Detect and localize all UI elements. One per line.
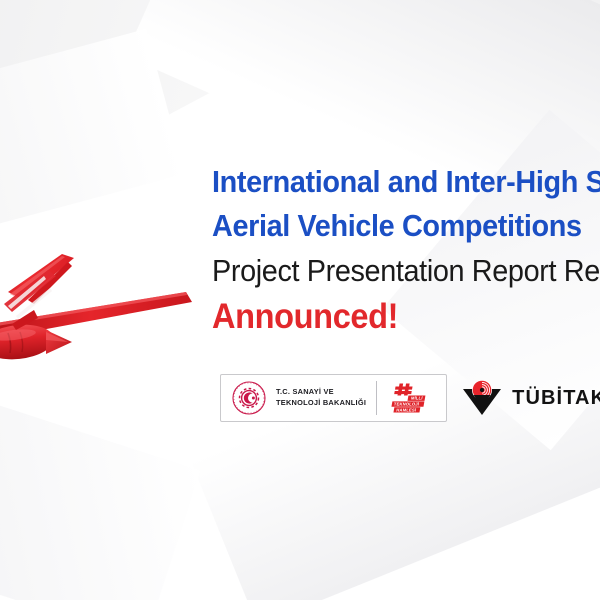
milli-teknoloji-hamlesi-logo: MİLLİ TEKNOLOJİ HAMLESİ [387, 381, 435, 415]
headline-line-1: International and Inter-High S [212, 166, 600, 197]
ministry-text-line-2: TEKNOLOJİ BAKANLIĞI [276, 398, 366, 409]
tubitak-logo: TÜBİTAK [461, 379, 600, 417]
ministry-logo-text: T.C. SANAYİ VE TEKNOLOJİ BAKANLIĞI [276, 387, 366, 408]
headline-line-2: Aerial Vehicle Competitions [212, 210, 600, 241]
ministry-logo-box: T.C. SANAYİ VE TEKNOLOJİ BAKANLIĞI [220, 374, 447, 422]
logo-row: T.C. SANAYİ VE TEKNOLOJİ BAKANLIĞI [220, 374, 600, 422]
svg-text:MİLLİ: MİLLİ [411, 396, 424, 401]
rocket-nose-cone [46, 330, 72, 354]
tubitak-v-mark [461, 379, 503, 417]
bg-shape-bottom-left [0, 378, 200, 600]
turkish-ministry-gear-emblem [232, 381, 266, 415]
tubitak-wordmark: TÜBİTAK [512, 387, 600, 410]
red-rocket-uav-graphic [0, 196, 205, 366]
headline-announced: Announced! [212, 299, 600, 334]
ministry-text-line-1: T.C. SANAYİ VE [276, 387, 366, 398]
headline-block: International and Inter-High S Aerial Ve… [212, 166, 600, 334]
headline-line-3: Project Presentation Report Re [212, 255, 600, 286]
svg-text:TEKNOLOJİ: TEKNOLOJİ [394, 402, 420, 407]
svg-text:HAMLESİ: HAMLESİ [396, 407, 417, 412]
announcement-banner: International and Inter-High S Aerial Ve… [0, 0, 600, 600]
logo-divider [376, 381, 377, 415]
